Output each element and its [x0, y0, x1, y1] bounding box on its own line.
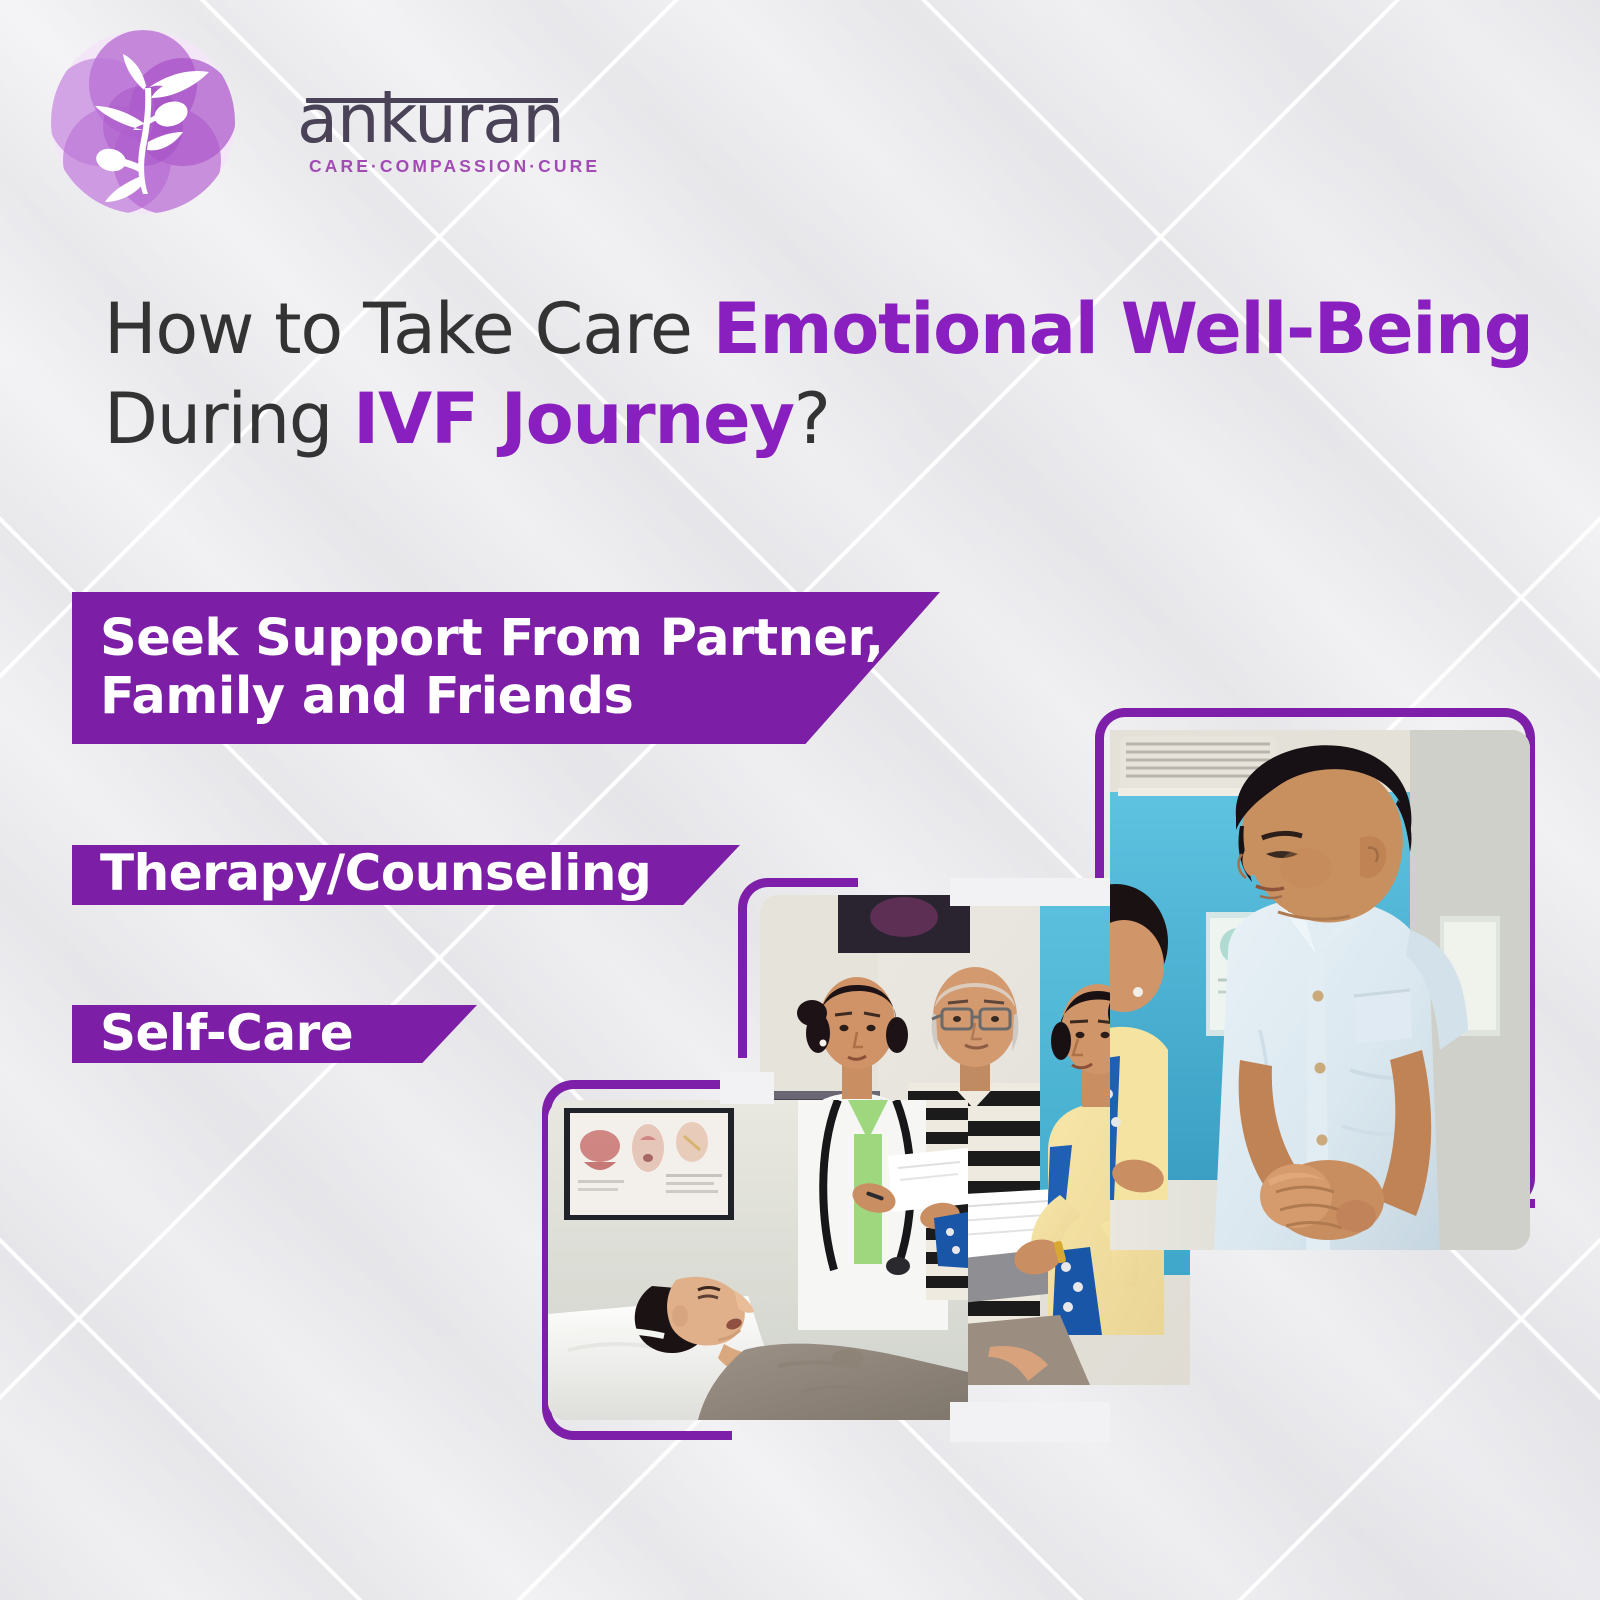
headline-line-1: How to Take Care Emotional Well-Being	[104, 285, 1434, 375]
brand-tagline: CARE·COMPASSION·CURE	[309, 156, 577, 177]
photo-man-clasped-hands	[1110, 730, 1530, 1250]
collage-seam-bottom	[950, 1402, 1110, 1442]
ankuran-sprig-logo-icon	[47, 26, 239, 218]
poster-canvas: ankuran CARE·COMPASSION·CURE How to Take…	[0, 0, 1600, 1600]
photo-collage	[520, 660, 1590, 1450]
wordmark-top-bar	[306, 98, 558, 103]
headline-line-2: During IVF Journey?	[104, 375, 1434, 465]
wordmark-text: ankuran	[297, 74, 577, 152]
banner-self-care-label: Self-Care	[100, 1008, 353, 1058]
headline-line2-accent: IVF Journey	[353, 378, 794, 460]
page-title: How to Take Care Emotional Well-Being Du…	[104, 285, 1434, 464]
headline-question-mark: ?	[794, 378, 830, 460]
headline-line1-light: How to Take Care	[104, 288, 713, 370]
banner-self-care: Self-Care	[72, 1005, 477, 1063]
photo-patient-on-exam-bed	[548, 1100, 968, 1420]
brand-logo[interactable]: ankuran CARE·COMPASSION·CURE	[47, 26, 527, 206]
headline-line1-accent: Emotional Well-Being	[713, 288, 1533, 370]
collage-seam-top	[950, 878, 1110, 906]
brand-wordmark-block: ankuran CARE·COMPASSION·CURE	[297, 74, 577, 177]
collage-seam-left	[720, 1072, 774, 1104]
headline-line2-light: During	[104, 378, 353, 460]
